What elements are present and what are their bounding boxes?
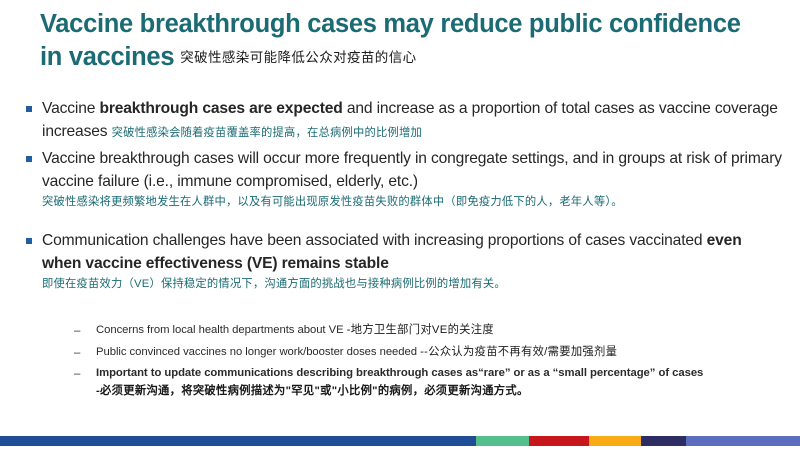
- dash-icon: –: [74, 344, 96, 362]
- sub-bullet-english: Public convinced vaccines no longer work…: [96, 346, 420, 358]
- segment-navy: [641, 436, 686, 446]
- sub-bullet-chinese: --公众认为疫苗不再有效/需要加强剂量: [420, 346, 617, 358]
- bullet-segment-plain: Communication challenges have been assoc…: [42, 232, 707, 249]
- bullet-chinese-line: 突破性感染将更频繁地发生在人群中，以及有可能出现原发性疫苗失败的群体中（即免疫力…: [42, 195, 782, 210]
- sub-bullet-item: – Public convinced vaccines no longer wo…: [74, 344, 774, 362]
- title-chinese: 突破性感染可能降低公众对疫苗的信心: [174, 50, 416, 65]
- bullet-chinese-inline: 突破性感染会随着疫苗覆盖率的提高，在总病例中的比例增加: [112, 127, 422, 139]
- sub-bullet-chinese: -地方卫生部门对VE的关注度: [347, 324, 494, 336]
- sub-bullet-item: – Concerns from local health departments…: [74, 322, 774, 340]
- segment-dark-blue: [0, 436, 476, 446]
- segment-orange: [589, 436, 641, 446]
- bullet-chinese-line: 即使在疫苗效力（VE）保持稳定的情况下，沟通方面的挑战也与接种病例比例的增加有关…: [42, 277, 782, 292]
- sub-bullet-english: Important to update communications descr…: [96, 367, 703, 379]
- bullet-segment-plain: Vaccine breakthrough cases will occur mo…: [42, 150, 782, 190]
- segment-green: [476, 436, 529, 446]
- slide-canvas: Vaccine breakthrough cases may reduce pu…: [0, 0, 800, 450]
- bullet-item: Vaccine breakthrough cases will occur mo…: [26, 148, 782, 210]
- bullet-segment-bold: breakthrough cases are expected: [99, 100, 342, 117]
- bullet-text: Vaccine breakthrough cases will occur mo…: [42, 148, 782, 210]
- bullet-text: Vaccine breakthrough cases are expected …: [42, 98, 782, 144]
- spacer: [26, 210, 782, 230]
- segment-red: [529, 436, 589, 446]
- dash-icon: –: [74, 365, 96, 383]
- sub-bullet-text: Public convinced vaccines no longer work…: [96, 344, 774, 361]
- bullet-segment-plain: Vaccine: [42, 100, 99, 117]
- sub-bullet-chinese-line: -必须更新沟通，将突破性病例描述为"罕见"或"小比例"的病例，必须更新沟通方式。: [96, 383, 774, 400]
- footer-color-bar: [0, 436, 800, 446]
- bullet-item: Communication challenges have been assoc…: [26, 230, 782, 292]
- sub-bullet-text: Concerns from local health departments a…: [96, 322, 774, 339]
- sub-bullet-list: – Concerns from local health departments…: [74, 322, 774, 404]
- sub-bullet-english: Concerns from local health departments a…: [96, 324, 347, 336]
- slide-title: Vaccine breakthrough cases may reduce pu…: [40, 8, 760, 74]
- sub-bullet-text: Important to update communications descr…: [96, 365, 774, 400]
- segment-periwinkle: [686, 436, 800, 446]
- sub-bullet-item: – Important to update communications des…: [74, 365, 774, 400]
- square-bullet-icon: [26, 230, 42, 244]
- bullet-list: Vaccine breakthrough cases are expected …: [26, 98, 782, 292]
- dash-icon: –: [74, 322, 96, 340]
- square-bullet-icon: [26, 98, 42, 112]
- bullet-item: Vaccine breakthrough cases are expected …: [26, 98, 782, 144]
- bullet-text: Communication challenges have been assoc…: [42, 230, 782, 292]
- square-bullet-icon: [26, 148, 42, 162]
